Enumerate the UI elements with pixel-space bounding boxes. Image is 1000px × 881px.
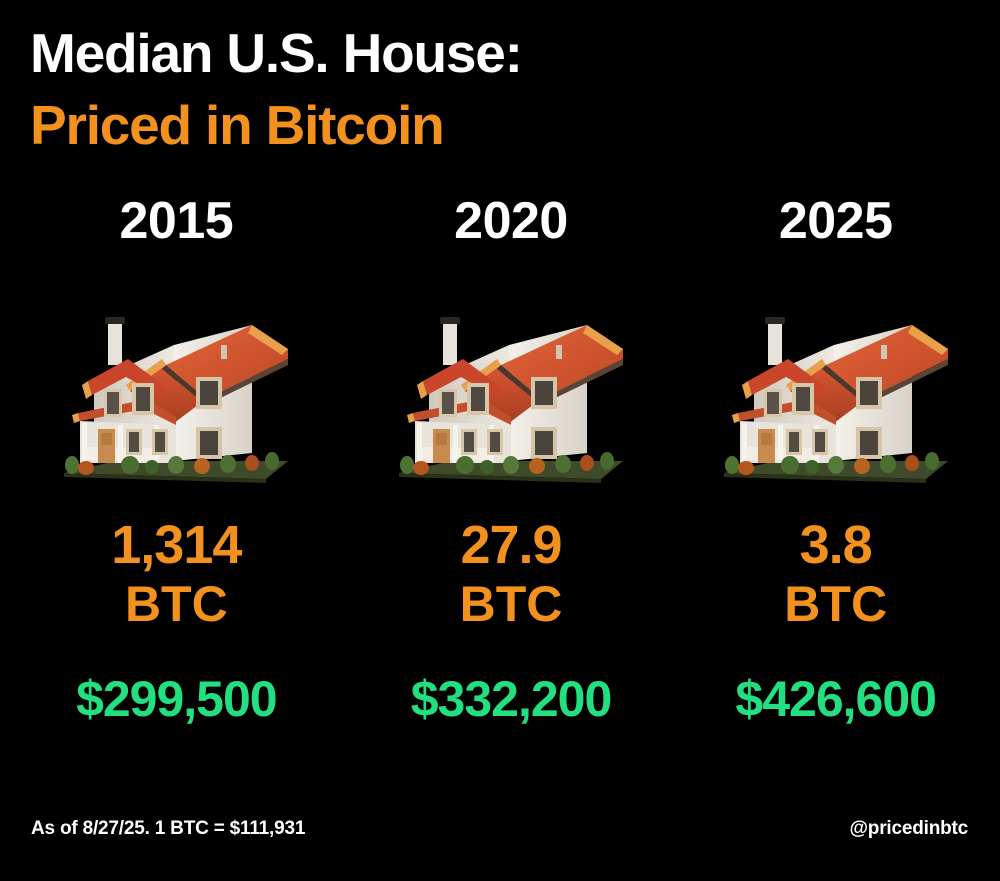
btc-unit-2025: BTC — [784, 578, 887, 631]
footer-source-note: As of 8/27/25. 1 BTC = $111,931 — [31, 818, 305, 840]
house-icon — [391, 303, 631, 489]
btc-unit-2015: BTC — [125, 578, 228, 631]
title-line-primary: Median U.S. House: — [30, 18, 730, 90]
btc-amount-2020: 27.9 — [460, 517, 561, 574]
infographic-poster: Median U.S. House: Priced in Bitcoin 201… — [0, 0, 1000, 881]
usd-value-2020: $332,200 — [411, 674, 612, 724]
house-icon — [716, 303, 956, 489]
house-icon — [56, 303, 296, 489]
usd-value-2015: $299,500 — [76, 674, 277, 724]
btc-unit-2020: BTC — [460, 578, 563, 631]
usd-value-2025: $426,600 — [735, 674, 936, 724]
comparison-column-2020: 2020 — [347, 195, 676, 724]
title-line-secondary: Priced in Bitcoin — [30, 90, 730, 162]
year-label-2025: 2025 — [779, 195, 893, 255]
footer-handle[interactable]: @pricedinbtc — [849, 818, 968, 840]
comparison-column-2015: 2015 — [12, 195, 341, 724]
comparison-column-2025: 2025 — [671, 195, 1000, 724]
btc-amount-2025: 3.8 — [800, 517, 872, 574]
year-label-2015: 2015 — [119, 195, 233, 255]
year-label-2020: 2020 — [454, 195, 568, 255]
comparison-columns: 2015 — [0, 195, 1000, 724]
btc-amount-2015: 1,314 — [111, 517, 241, 574]
page-title: Median U.S. House: Priced in Bitcoin — [30, 18, 730, 161]
